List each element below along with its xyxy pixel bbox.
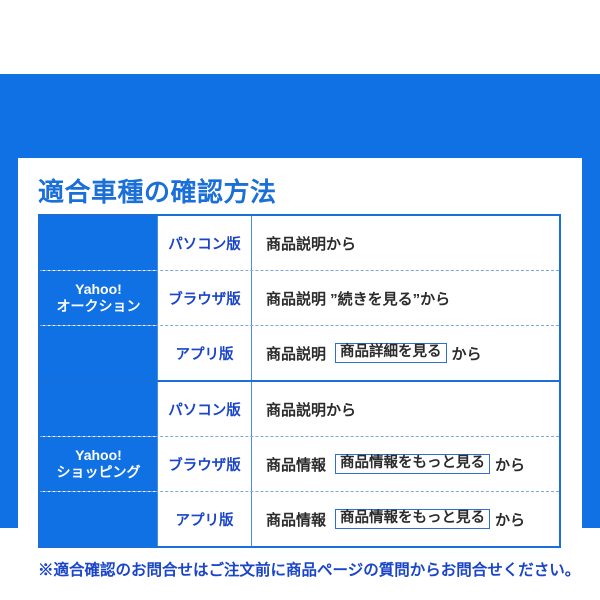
brand-label-cell: Yahoo!オークション — [40, 271, 157, 325]
brand-label-cell-continuation — [40, 326, 157, 380]
table-group: パソコン版商品説明からYahoo!ショッピングブラウザ版商品情報商品情報をもっと… — [40, 380, 559, 546]
screenshot-canvas: 適合車種の確認方法 パソコン版商品説明からYahoo!オークションブラウザ版商品… — [0, 0, 600, 600]
instruction-text: から — [495, 509, 525, 530]
brand-service: ショッピング — [57, 464, 141, 481]
brand-label-cell-continuation — [40, 216, 157, 270]
compatibility-check-table: パソコン版商品説明からYahoo!オークションブラウザ版商品説明 ”続きを見る”… — [38, 214, 561, 548]
ui-button-reference: 商品詳細を見る — [335, 343, 447, 364]
brand-label-cell-continuation — [40, 382, 157, 436]
instruction-text: 商品情報 — [266, 509, 326, 530]
device-type-cell: アプリ版 — [157, 492, 251, 546]
instruction-cell: 商品説明 ”続きを見る”から — [251, 271, 559, 325]
ui-button-reference: 商品情報をもっと見る — [335, 454, 490, 475]
table-row: アプリ版商品情報商品情報をもっと見るから — [40, 491, 559, 546]
device-type-cell: パソコン版 — [157, 216, 251, 270]
instruction-text: 商品説明 — [266, 343, 326, 364]
brand-label-cell: Yahoo!ショッピング — [40, 437, 157, 491]
device-type-cell: ブラウザ版 — [157, 271, 251, 325]
footnote-text: ※適合確認のお問合せはご注文前に商品ページの質問からお問合せください。 — [38, 558, 580, 580]
instruction-text: から — [495, 454, 525, 475]
ui-button-reference: 商品情報をもっと見る — [335, 509, 490, 530]
instruction-text: 商品情報 — [266, 454, 326, 475]
page-title: 適合車種の確認方法 — [38, 172, 277, 209]
table-row: パソコン版商品説明から — [40, 216, 559, 270]
brand-label-stack: Yahoo!ショッピング — [57, 447, 141, 480]
instruction-text: 商品説明から — [266, 233, 356, 254]
device-type-cell: パソコン版 — [157, 382, 251, 436]
instruction-cell: 商品情報商品情報をもっと見るから — [251, 492, 559, 546]
table-row: Yahoo!オークションブラウザ版商品説明 ”続きを見る”から — [40, 270, 559, 325]
instruction-cell: 商品説明から — [251, 216, 559, 270]
blue-banner-frame: 適合車種の確認方法 パソコン版商品説明からYahoo!オークションブラウザ版商品… — [0, 74, 600, 528]
instruction-cell: 商品説明商品詳細を見るから — [251, 326, 559, 380]
brand-label-stack: Yahoo!オークション — [57, 281, 141, 314]
info-card-panel: 適合車種の確認方法 パソコン版商品説明からYahoo!オークションブラウザ版商品… — [18, 158, 582, 592]
table-row: パソコン版商品説明から — [40, 382, 559, 436]
instruction-text: 商品説明から — [266, 399, 356, 420]
instruction-cell: 商品説明から — [251, 382, 559, 436]
instruction-cell: 商品情報商品情報をもっと見るから — [251, 437, 559, 491]
brand-label-cell-continuation — [40, 492, 157, 546]
table-row: アプリ版商品説明商品詳細を見るから — [40, 325, 559, 380]
brand-name: Yahoo! — [57, 447, 141, 464]
instruction-text: から — [452, 343, 482, 364]
device-type-cell: アプリ版 — [157, 326, 251, 380]
table-group: パソコン版商品説明からYahoo!オークションブラウザ版商品説明 ”続きを見る”… — [40, 216, 559, 380]
device-type-cell: ブラウザ版 — [157, 437, 251, 491]
instruction-text: 商品説明 ”続きを見る”から — [266, 288, 450, 309]
brand-service: オークション — [57, 298, 141, 315]
table-row: Yahoo!ショッピングブラウザ版商品情報商品情報をもっと見るから — [40, 436, 559, 491]
brand-name: Yahoo! — [57, 281, 141, 298]
